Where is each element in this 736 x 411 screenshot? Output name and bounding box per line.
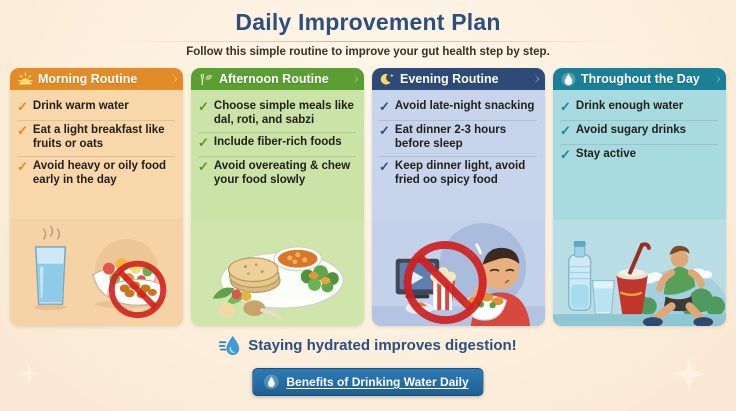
infographic-poster: Daily Improvement Plan Follow this simpl…	[0, 0, 736, 411]
water-drop-icon	[561, 72, 576, 87]
ribbon-notch	[530, 68, 545, 90]
list-item: ✓ Include fiber-rich foods	[198, 133, 356, 157]
list-item: ✓ Avoid heavy or oily food early in the …	[17, 157, 175, 192]
list-item-text: Eat dinner 2-3 hours before sleep	[395, 124, 537, 151]
page-title: Daily Improvement Plan	[0, 0, 736, 37]
sparkle-decoration-icon	[672, 357, 706, 391]
card-header-morning: Morning Routine	[10, 68, 183, 90]
sparkle-decoration-icon	[18, 363, 40, 385]
card-title-morning: Morning Routine	[38, 72, 137, 86]
list-item: ✓ Drink enough water	[560, 97, 718, 121]
list-item: ✓ Keep dinner light, avoid fried oo spic…	[379, 157, 537, 192]
water-drop-icon	[219, 334, 241, 356]
list-item: ✓ Avoid sugary drinks	[560, 121, 718, 145]
checkmark-icon: ✓	[17, 160, 28, 175]
list-item-text: Choose simple meals like dal, roti, and …	[214, 100, 356, 127]
checkmark-icon: ✓	[198, 136, 209, 151]
water-drop-badge-icon	[263, 374, 279, 390]
crescent-moon-icon	[380, 72, 395, 87]
routine-card-morning: Morning Routine ✓ Drink warm water ✓ Eat…	[10, 68, 183, 326]
card-title-throughout-the-day: Throughout the Day	[581, 72, 700, 86]
footer-note-text: Staying hydrated improves digestion!	[248, 337, 516, 354]
bullet-list-throughout-the-day: ✓ Drink enough water ✓ Avoid sugary drin…	[553, 90, 726, 168]
card-header-evening: Evening Routine	[372, 68, 545, 90]
list-item-text: Avoid late-night snacking	[395, 100, 535, 114]
card-header-afternoon: Afternoon Routine	[191, 68, 364, 90]
routine-card-throughout-the-day: Throughout the Day ✓ Drink enough water …	[553, 68, 726, 326]
list-item-text: Eat a light breakfast like fruits or oat…	[33, 124, 175, 151]
routine-card-evening: Evening Routine ✓ Avoid late-night snack…	[372, 68, 545, 326]
checkmark-icon: ✓	[379, 160, 390, 175]
list-item: ✓ Choose simple meals like dal, roti, an…	[198, 97, 356, 133]
ribbon-notch	[168, 68, 183, 90]
list-item: ✓ Avoid overeating & chew your food slow…	[198, 157, 356, 192]
list-item-text: Drink warm water	[33, 100, 129, 114]
checkmark-icon: ✓	[560, 100, 571, 115]
checkmark-icon: ✓	[198, 160, 209, 175]
title-divider	[118, 41, 618, 42]
bullet-list-morning: ✓ Drink warm water ✓ Eat a light breakfa…	[10, 90, 183, 192]
page-subtitle: Follow this simple routine to improve yo…	[0, 46, 736, 58]
checkmark-icon: ✓	[17, 124, 28, 139]
illustration-afternoon	[191, 218, 364, 326]
checkmark-icon: ✓	[379, 124, 390, 139]
cta-label: Benefits of Drinking Water Daily	[286, 375, 468, 389]
list-item-text: Keep dinner light, avoid fried oo spicy …	[395, 160, 537, 187]
card-title-afternoon: Afternoon Routine	[219, 72, 329, 86]
list-item-text: Drink enough water	[576, 100, 683, 114]
checkmark-icon: ✓	[17, 100, 28, 115]
list-item: ✓ Eat dinner 2-3 hours before sleep	[379, 121, 537, 157]
list-item-text: Avoid overeating & chew your food slowly	[214, 160, 356, 187]
checkmark-icon: ✓	[560, 148, 571, 163]
card-title-evening: Evening Routine	[400, 72, 499, 86]
footer-note: Staying hydrated improves digestion!	[0, 334, 736, 356]
list-item-text: Include fiber-rich foods	[214, 136, 342, 150]
list-item: ✓ Stay active	[560, 145, 718, 168]
list-item-text: Avoid sugary drinks	[576, 124, 686, 138]
list-item-text: Stay active	[576, 148, 636, 162]
checkmark-icon: ✓	[379, 100, 390, 115]
checkmark-icon: ✓	[198, 100, 209, 115]
sun-icon	[18, 72, 33, 87]
checkmark-icon: ✓	[560, 124, 571, 139]
list-item-text: Avoid heavy or oily food early in the da…	[33, 160, 175, 187]
list-item: ✓ Drink warm water	[17, 97, 175, 121]
routine-columns: Morning Routine ✓ Drink warm water ✓ Eat…	[10, 68, 726, 326]
list-item: ✓ Eat a light breakfast like fruits or o…	[17, 121, 175, 157]
illustration-evening	[372, 218, 545, 326]
illustration-throughout-the-day	[553, 218, 726, 326]
bullet-list-afternoon: ✓ Choose simple meals like dal, roti, an…	[191, 90, 364, 192]
list-item: ✓ Avoid late-night snacking	[379, 97, 537, 121]
illustration-morning	[10, 218, 183, 326]
benefits-of-drinking-water-daily-button[interactable]: Benefits of Drinking Water Daily	[252, 368, 483, 396]
routine-card-afternoon: Afternoon Routine ✓ Choose simple meals …	[191, 68, 364, 326]
ribbon-notch	[349, 68, 364, 90]
fork-and-leaf-icon	[199, 72, 214, 87]
bullet-list-evening: ✓ Avoid late-night snacking ✓ Eat dinner…	[372, 90, 545, 192]
ribbon-notch	[711, 68, 726, 90]
card-header-throughout-the-day: Throughout the Day	[553, 68, 726, 90]
